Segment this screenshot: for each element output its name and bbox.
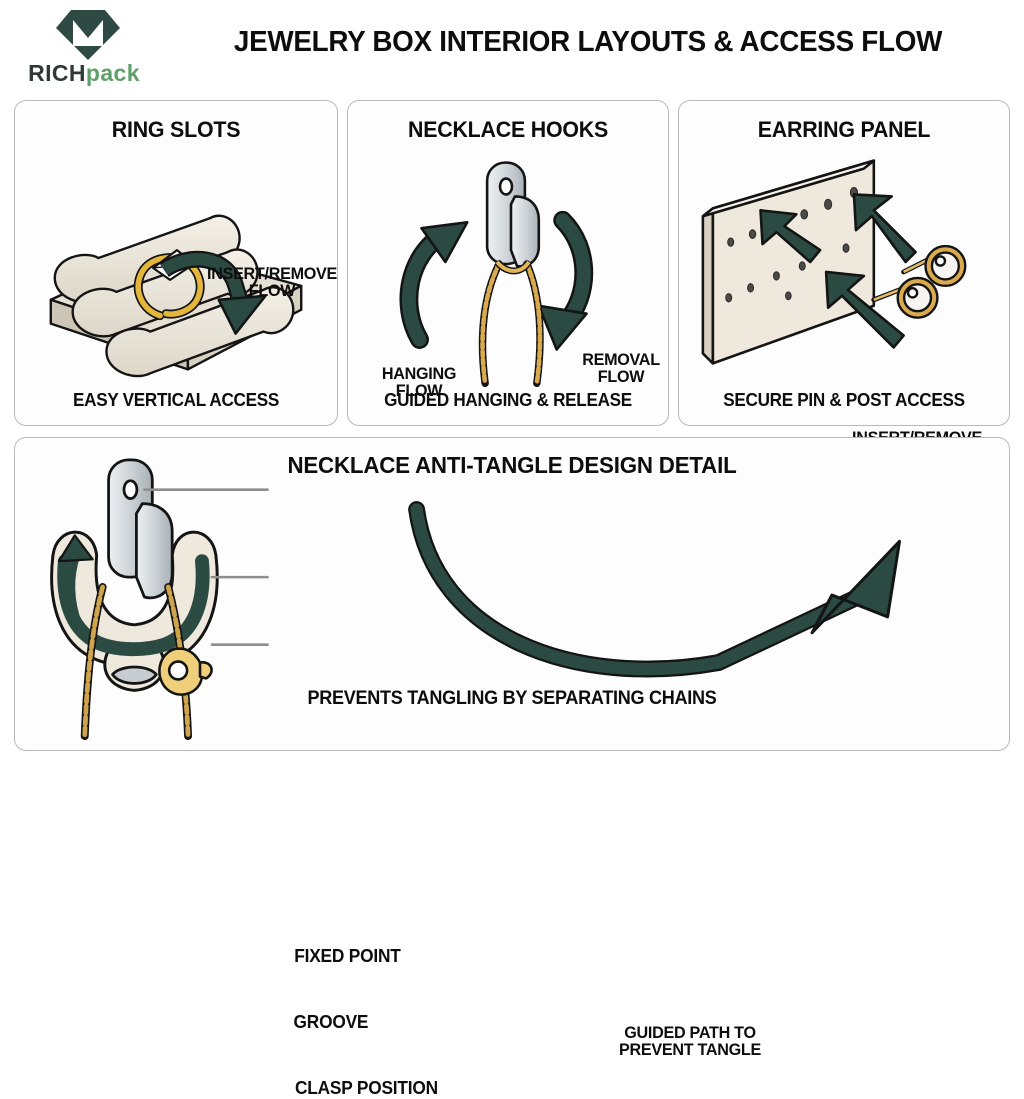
panel-necklace-hooks: NECKLACE HOOKS [347,100,669,426]
panel-footer-earring-panel: SECURE PIN & POST ACCESS [687,390,1001,411]
page-title: JEWELRY BOX INTERIOR LAYOUTS & ACCESS FL… [177,26,999,59]
panel-footer-necklace-hooks: GUIDED HANGING & RELEASE [356,390,660,411]
callout-label-groove: GROOVE [294,1012,369,1033]
diamond-gem-icon [54,8,122,62]
ring-slots-illustration [15,101,337,425]
infographic-canvas: RICHpack JEWELRY BOX INTERIOR LAYOUTS & … [0,0,1024,765]
callout-label-fixed-point: FIXED POINT [294,946,400,967]
removal-flow-arrow [539,220,587,349]
earring-panel-illustration [679,101,1009,425]
brand-logo: RICHpack [18,6,150,92]
panel-ring-slots: RING SLOTS [14,100,338,426]
panel-earring-panel: EARRING PANEL [678,100,1010,426]
caption-guided-path: GUIDED PATH TO PREVENT TANGLE [590,1024,790,1059]
header: RICHpack JEWELRY BOX INTERIOR LAYOUTS & … [0,0,1024,96]
guided-path-arrow [417,510,900,669]
caption-insert-remove-flow-1: INSERT/REMOVE FLOW [191,265,353,300]
panel-footer-anti-tangle: PREVENTS TANGLING BY SEPARATING CHAINS [40,688,984,710]
panel-anti-tangle-detail: NECKLACE ANTI-TANGLE DESIGN DETAIL [14,437,1010,751]
hanging-flow-arrow [409,222,467,339]
brand-name-rich: RICH [28,60,86,86]
brand-name-pack: pack [86,60,140,86]
caption-removal-flow: REMOVAL FLOW [569,351,674,386]
earring-stud-front [874,278,938,318]
callout-label-clasp-position: CLASP POSITION [295,1078,438,1099]
brand-wordmark: RICHpack [18,62,150,85]
panel-footer-ring-slots: EASY VERTICAL ACCESS [23,390,329,411]
